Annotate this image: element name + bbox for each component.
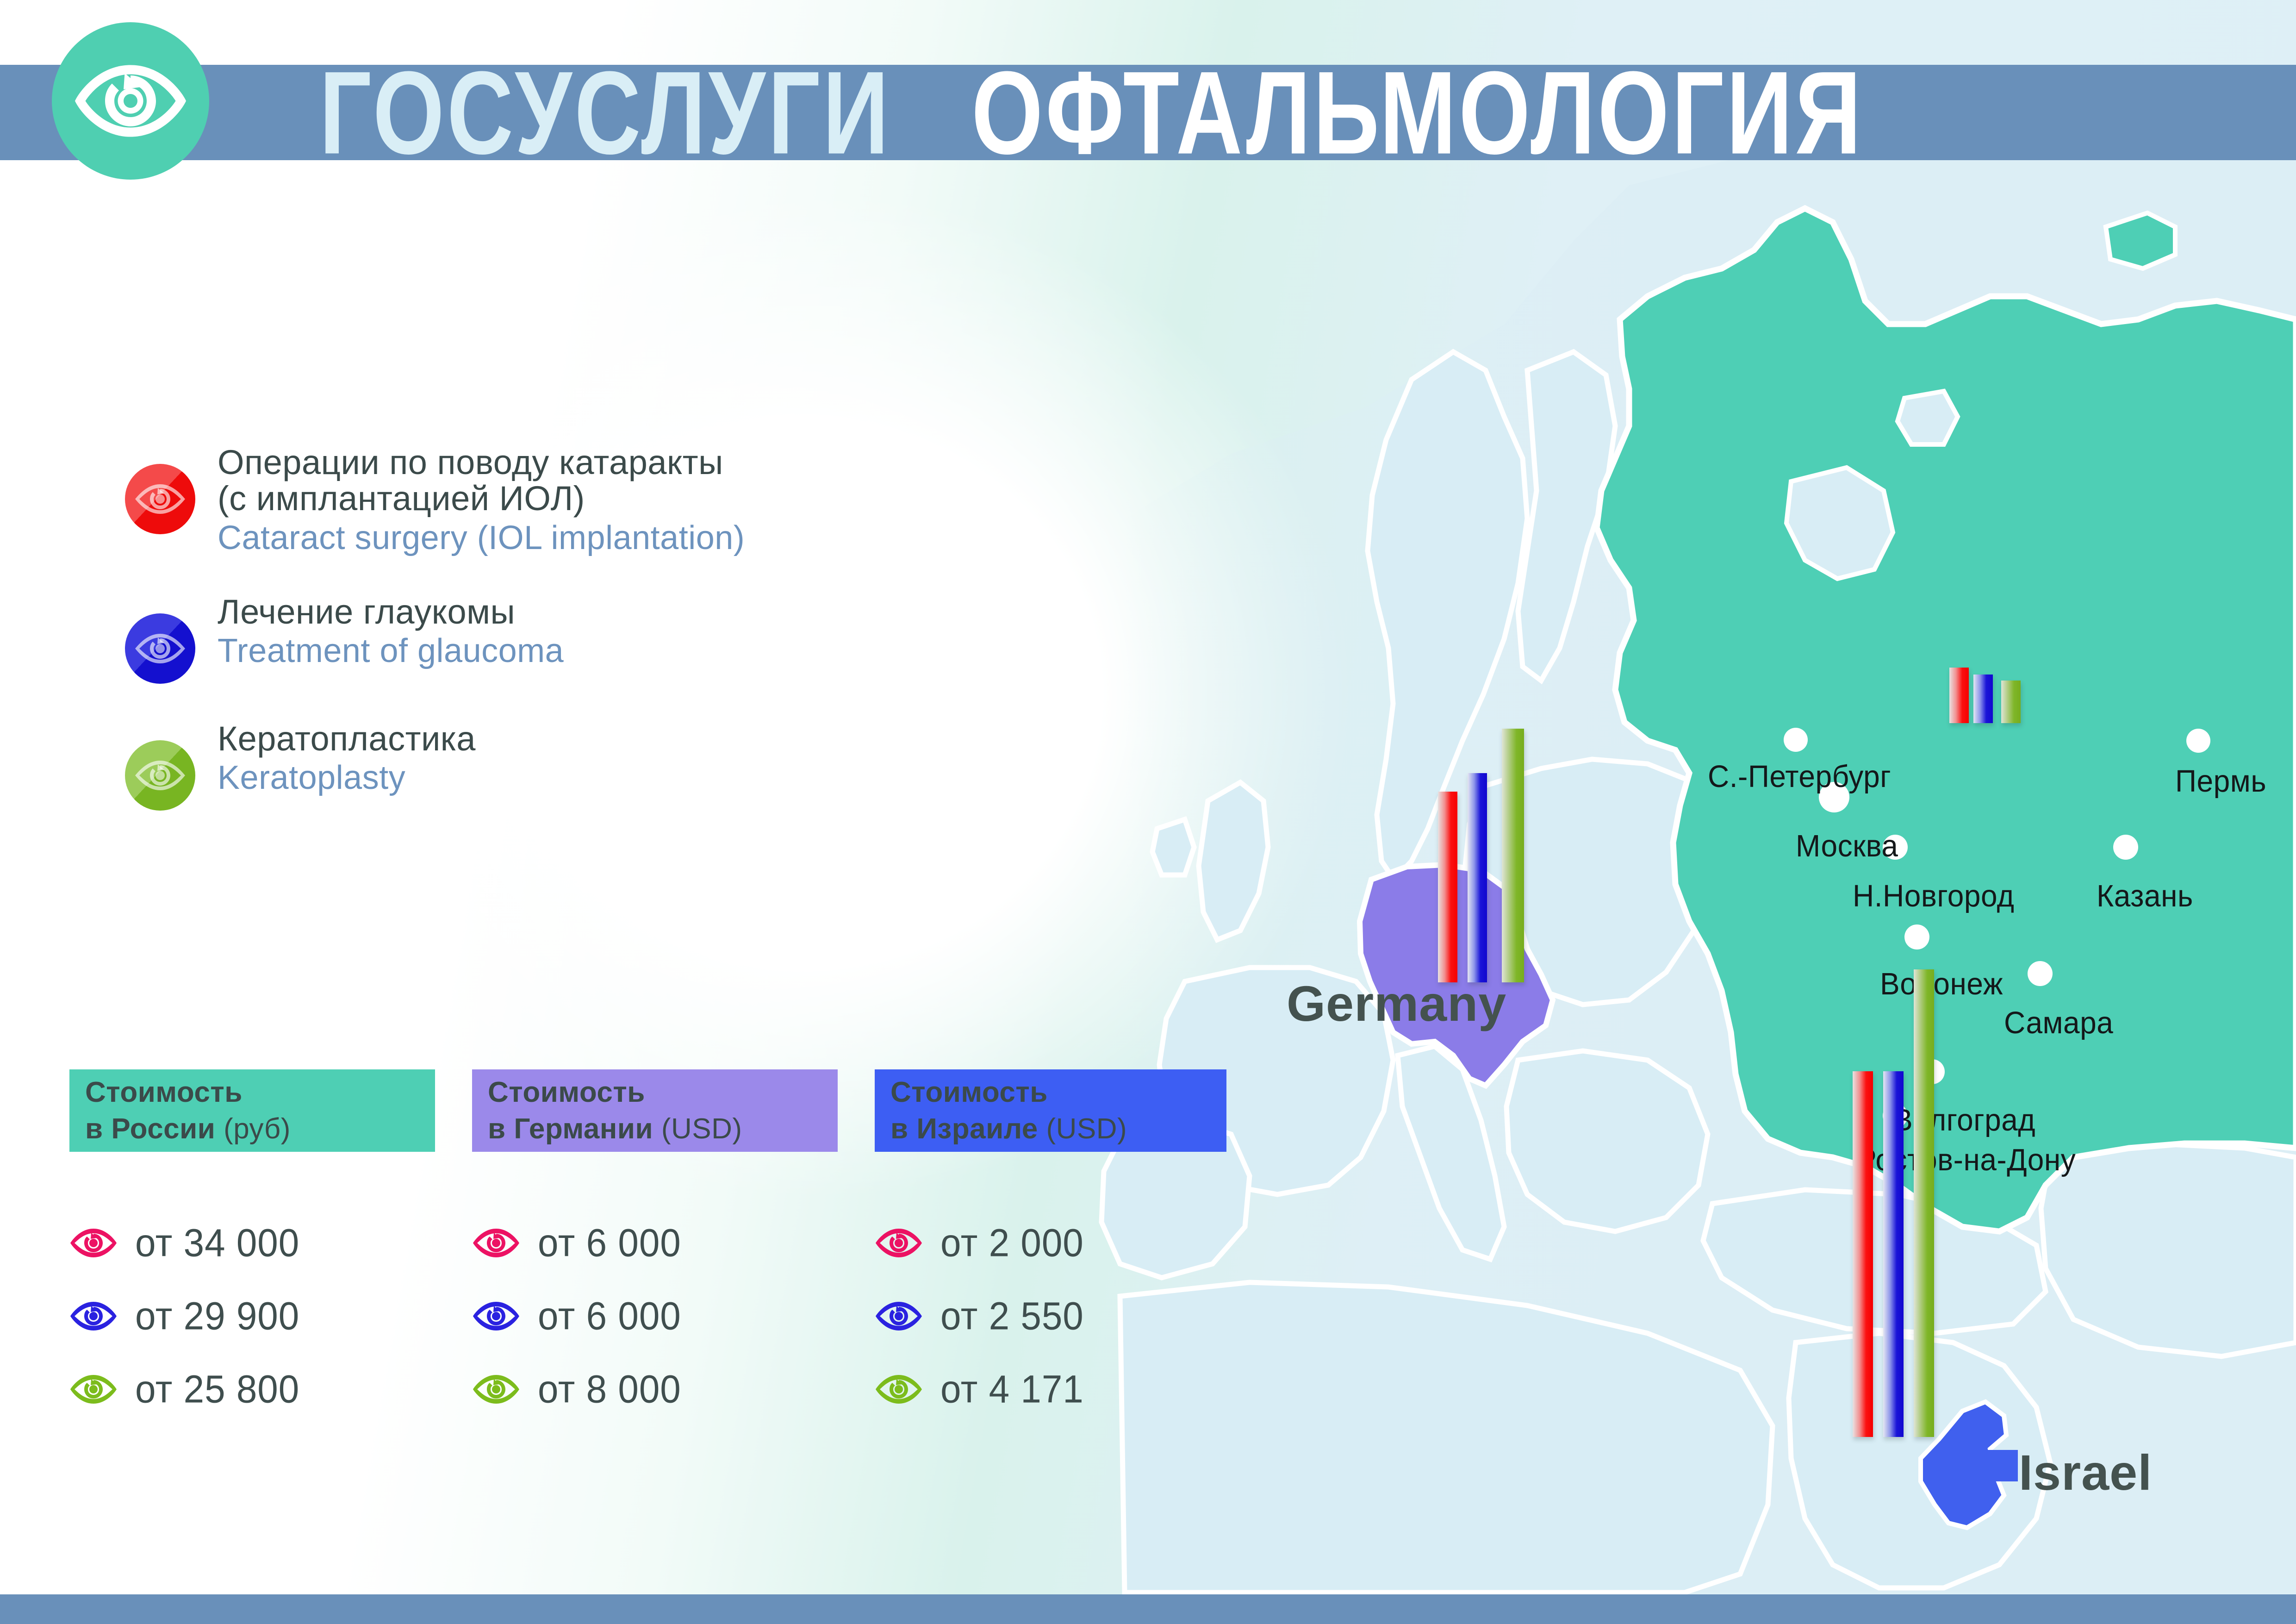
eye-icon-red [125, 464, 195, 534]
eye-icon [73, 43, 188, 159]
price-header-line1: Стоимость [85, 1074, 419, 1111]
eye-icon-pink [472, 1227, 520, 1259]
legend-label-ru: Операции по поводу катаракты (с импланта… [218, 444, 745, 517]
country-label-israel: Israel [2019, 1443, 2152, 1501]
price-header-line1: Стоимость [488, 1074, 822, 1111]
price-value: от 4 171 [940, 1367, 1084, 1412]
price-header-line2: в Германии [488, 1113, 661, 1145]
price-row-cataract: от 34 000 [69, 1206, 435, 1280]
logo-badge [52, 22, 209, 180]
price-header-israel: Стоимость в Израиле (USD) [875, 1069, 1226, 1152]
price-header-line2: в России [85, 1113, 224, 1145]
price-header-unit: (руб) [224, 1113, 291, 1145]
bar-germany-glaucoma [1468, 773, 1487, 982]
bar-russia-keratoplasty [2001, 681, 2021, 723]
price-row-cataract: от 6 000 [472, 1206, 838, 1280]
city-dot-spb [1784, 728, 1808, 752]
page-title-part2: ОФТАЛЬМОЛОГИЯ [971, 54, 1864, 172]
price-header-line1: Стоимость [890, 1074, 1211, 1111]
eye-icon-blue [69, 1300, 118, 1332]
footer-bar [0, 1594, 2296, 1624]
price-row-glaucoma: от 6 000 [472, 1280, 838, 1353]
legend-label-ru: Лечение глаукомы [218, 594, 564, 630]
eye-icon-blue [472, 1300, 520, 1332]
bar-israel-keratoplasty [1914, 969, 1934, 1437]
price-value: от 25 800 [135, 1367, 299, 1412]
eye-icon-pink [69, 1227, 118, 1259]
eye-icon-green [472, 1373, 520, 1405]
legend-item-glaucoma[interactable]: Лечение глаукомы Treatment of glaucoma [125, 594, 745, 684]
legend-item-keratoplasty[interactable]: Кератопластика Keratoplasty [125, 721, 745, 811]
price-row-keratoplasty: от 8 000 [472, 1353, 838, 1426]
legend-label-en: Treatment of glaucoma [218, 632, 564, 670]
eye-icon-pink [875, 1227, 923, 1259]
bar-russia-cataract [1949, 668, 1969, 723]
legend: Операции по поводу катаракты (с импланта… [125, 444, 745, 811]
city-label-kazan: Казань [2097, 878, 2193, 914]
eye-icon-blue [125, 613, 195, 684]
city-label-moscow: Москва [1796, 828, 1898, 864]
price-row-glaucoma: от 2 550 [875, 1280, 1240, 1353]
price-header-line2: в Израиле [890, 1113, 1046, 1145]
legend-label-en: Cataract surgery (IOL implantation) [218, 519, 745, 557]
city-dot-perm [2186, 729, 2210, 753]
city-label-nnovgorod: Н.Новгород [1853, 878, 2014, 914]
price-column-russia: Стоимость в России (руб) от 34 000 от 29… [69, 1069, 435, 1426]
price-value: от 29 900 [135, 1293, 299, 1339]
page-title: ГОСУСЛУГИ ОФТАЛЬМОЛОГИЯ [319, 65, 1941, 160]
legend-label-ru: Кератопластика [218, 721, 476, 757]
price-row-keratoplasty: от 25 800 [69, 1353, 435, 1426]
eye-icon-blue [875, 1300, 923, 1332]
city-label-perm: Пермь [2175, 763, 2266, 799]
eye-icon-green [69, 1373, 118, 1405]
bar-germany-cataract [1438, 792, 1457, 982]
eye-icon-green [125, 740, 195, 811]
bar-chart-russia [1949, 663, 2042, 723]
arrow-up-left-icon [1921, 1398, 2027, 1518]
price-row-cataract: от 2 000 [875, 1206, 1240, 1280]
price-comparison-table: Стоимость в России (руб) от 34 000 от 29… [69, 1069, 1240, 1426]
bar-chart-israel [1853, 968, 1968, 1437]
price-column-israel: Стоимость в Израиле (USD) от 2 000 от 2 … [875, 1069, 1240, 1426]
legend-label-en: Keratoplasty [218, 759, 476, 797]
price-header-unit: (USD) [1046, 1113, 1127, 1145]
price-value: от 2 000 [940, 1220, 1084, 1266]
price-header-germany: Стоимость в Германии (USD) [472, 1069, 838, 1152]
bar-israel-cataract [1853, 1071, 1873, 1437]
city-label-samara: Самара [2004, 1005, 2113, 1041]
city-dot-kazan [2113, 835, 2138, 860]
country-label-germany: Germany [1287, 974, 1506, 1032]
price-value: от 34 000 [135, 1220, 299, 1266]
bar-russia-glaucoma [1973, 675, 1993, 723]
price-row-keratoplasty: от 4 171 [875, 1353, 1240, 1426]
city-label-spb: С.-Петербург [1708, 758, 1891, 794]
price-value: от 2 550 [940, 1293, 1084, 1339]
eye-icon-green [875, 1373, 923, 1405]
legend-item-cataract[interactable]: Операции по поводу катаракты (с импланта… [125, 444, 745, 557]
price-value: от 8 000 [538, 1367, 681, 1412]
page-title-part1: ГОСУСЛУГИ [319, 54, 891, 172]
bar-chart-germany [1438, 727, 1554, 982]
price-value: от 6 000 [538, 1220, 681, 1266]
city-dot-voronezh [1904, 924, 1929, 949]
price-column-germany: Стоимость в Германии (USD) от 6 000 от 6… [472, 1069, 838, 1426]
price-header-unit: (USD) [661, 1113, 742, 1145]
bar-germany-keratoplasty [1502, 729, 1524, 982]
price-row-glaucoma: от 29 900 [69, 1280, 435, 1353]
bar-israel-glaucoma [1883, 1071, 1904, 1437]
price-header-russia: Стоимость в России (руб) [69, 1069, 435, 1152]
price-value: от 6 000 [538, 1293, 681, 1339]
city-dot-samara [2028, 961, 2053, 986]
